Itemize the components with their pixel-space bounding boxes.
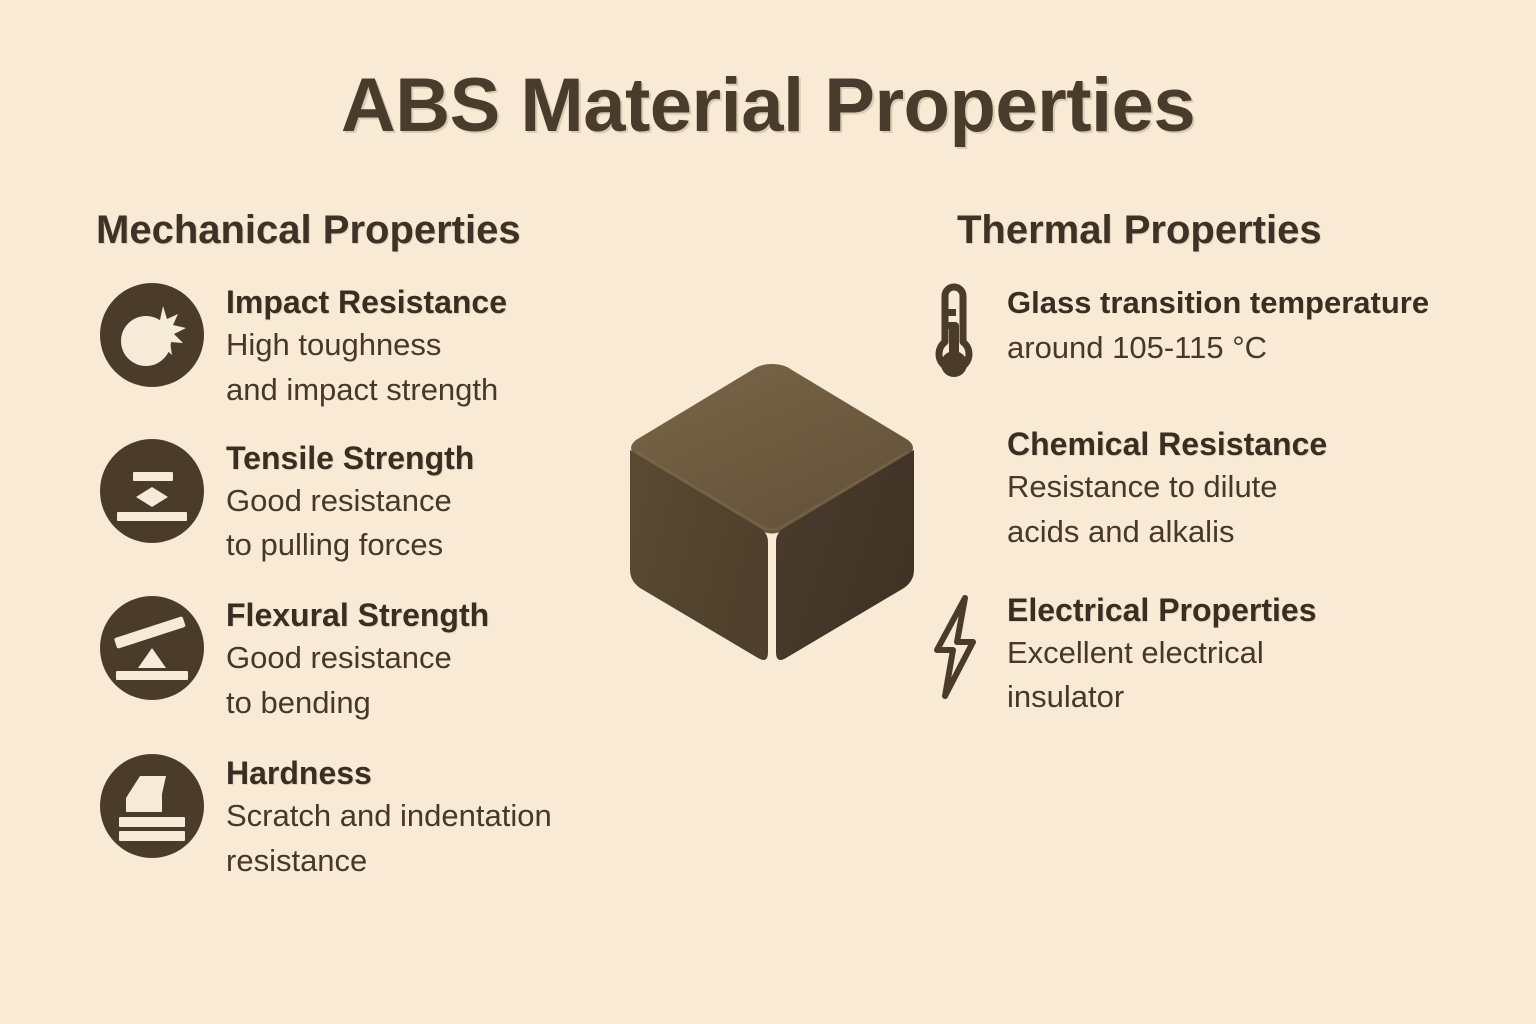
- thermal-properties-column: Thermal Properties Glass transition temp…: [915, 208, 1475, 756]
- list-item-text: Glass transition temperature around 105-…: [1007, 279, 1475, 371]
- glass-transition-bold: Glass transition temperature: [1007, 285, 1429, 320]
- list-item-tensile-strength: Tensile Strength Good resistance to pull…: [96, 435, 686, 569]
- hardness-indenter-icon: [96, 750, 208, 862]
- thermal-column-heading: Thermal Properties: [915, 208, 1475, 253]
- abs-material-cube: [612, 352, 932, 682]
- list-item-impact-resistance: Impact Resistance High toughness and imp…: [96, 279, 686, 413]
- item-title: Impact Resistance: [226, 285, 686, 321]
- glass-transition-paragraph: Glass transition temperature around 105-…: [1007, 281, 1475, 371]
- list-item-glass-transition: Glass transition temperature around 105-…: [915, 279, 1475, 391]
- item-description: Scratch and indentation resistance: [226, 794, 686, 884]
- item-description: Excellent electrical insulator: [1007, 631, 1475, 721]
- item-title: Electrical Properties: [1007, 593, 1475, 629]
- item-description: Resistance to dilute acids and alkalis: [1007, 465, 1475, 555]
- flexural-beam-icon: [96, 592, 208, 704]
- list-item-flexural-strength: Flexural Strength Good resistance to ben…: [96, 592, 686, 726]
- glass-transition-normal: around 105-115 °C: [1007, 330, 1267, 365]
- list-item-hardness: Hardness Scratch and indentation resista…: [96, 750, 686, 884]
- page-title: ABS Material Properties: [0, 62, 1536, 149]
- mechanical-properties-column: Mechanical Properties Impact Resistance …: [96, 208, 686, 908]
- list-item-text: Hardness Scratch and indentation resista…: [226, 750, 686, 884]
- tensile-bars-icon: [96, 435, 208, 547]
- list-item-text: Electrical Properties Excellent electric…: [1007, 591, 1475, 721]
- mechanical-column-heading: Mechanical Properties: [96, 208, 686, 253]
- impact-burst-icon: [96, 279, 208, 391]
- list-item-text: Chemical Resistance Resistance to dilute…: [1007, 427, 1475, 555]
- item-title: Hardness: [226, 756, 686, 792]
- list-item-electrical-properties: Electrical Properties Excellent electric…: [915, 591, 1475, 721]
- item-title: Chemical Resistance: [1007, 427, 1475, 463]
- list-item-chemical-resistance: Chemical Resistance Resistance to dilute…: [915, 427, 1475, 555]
- infographic-page: ABS Material Properties Mechanical Prope…: [0, 0, 1536, 1024]
